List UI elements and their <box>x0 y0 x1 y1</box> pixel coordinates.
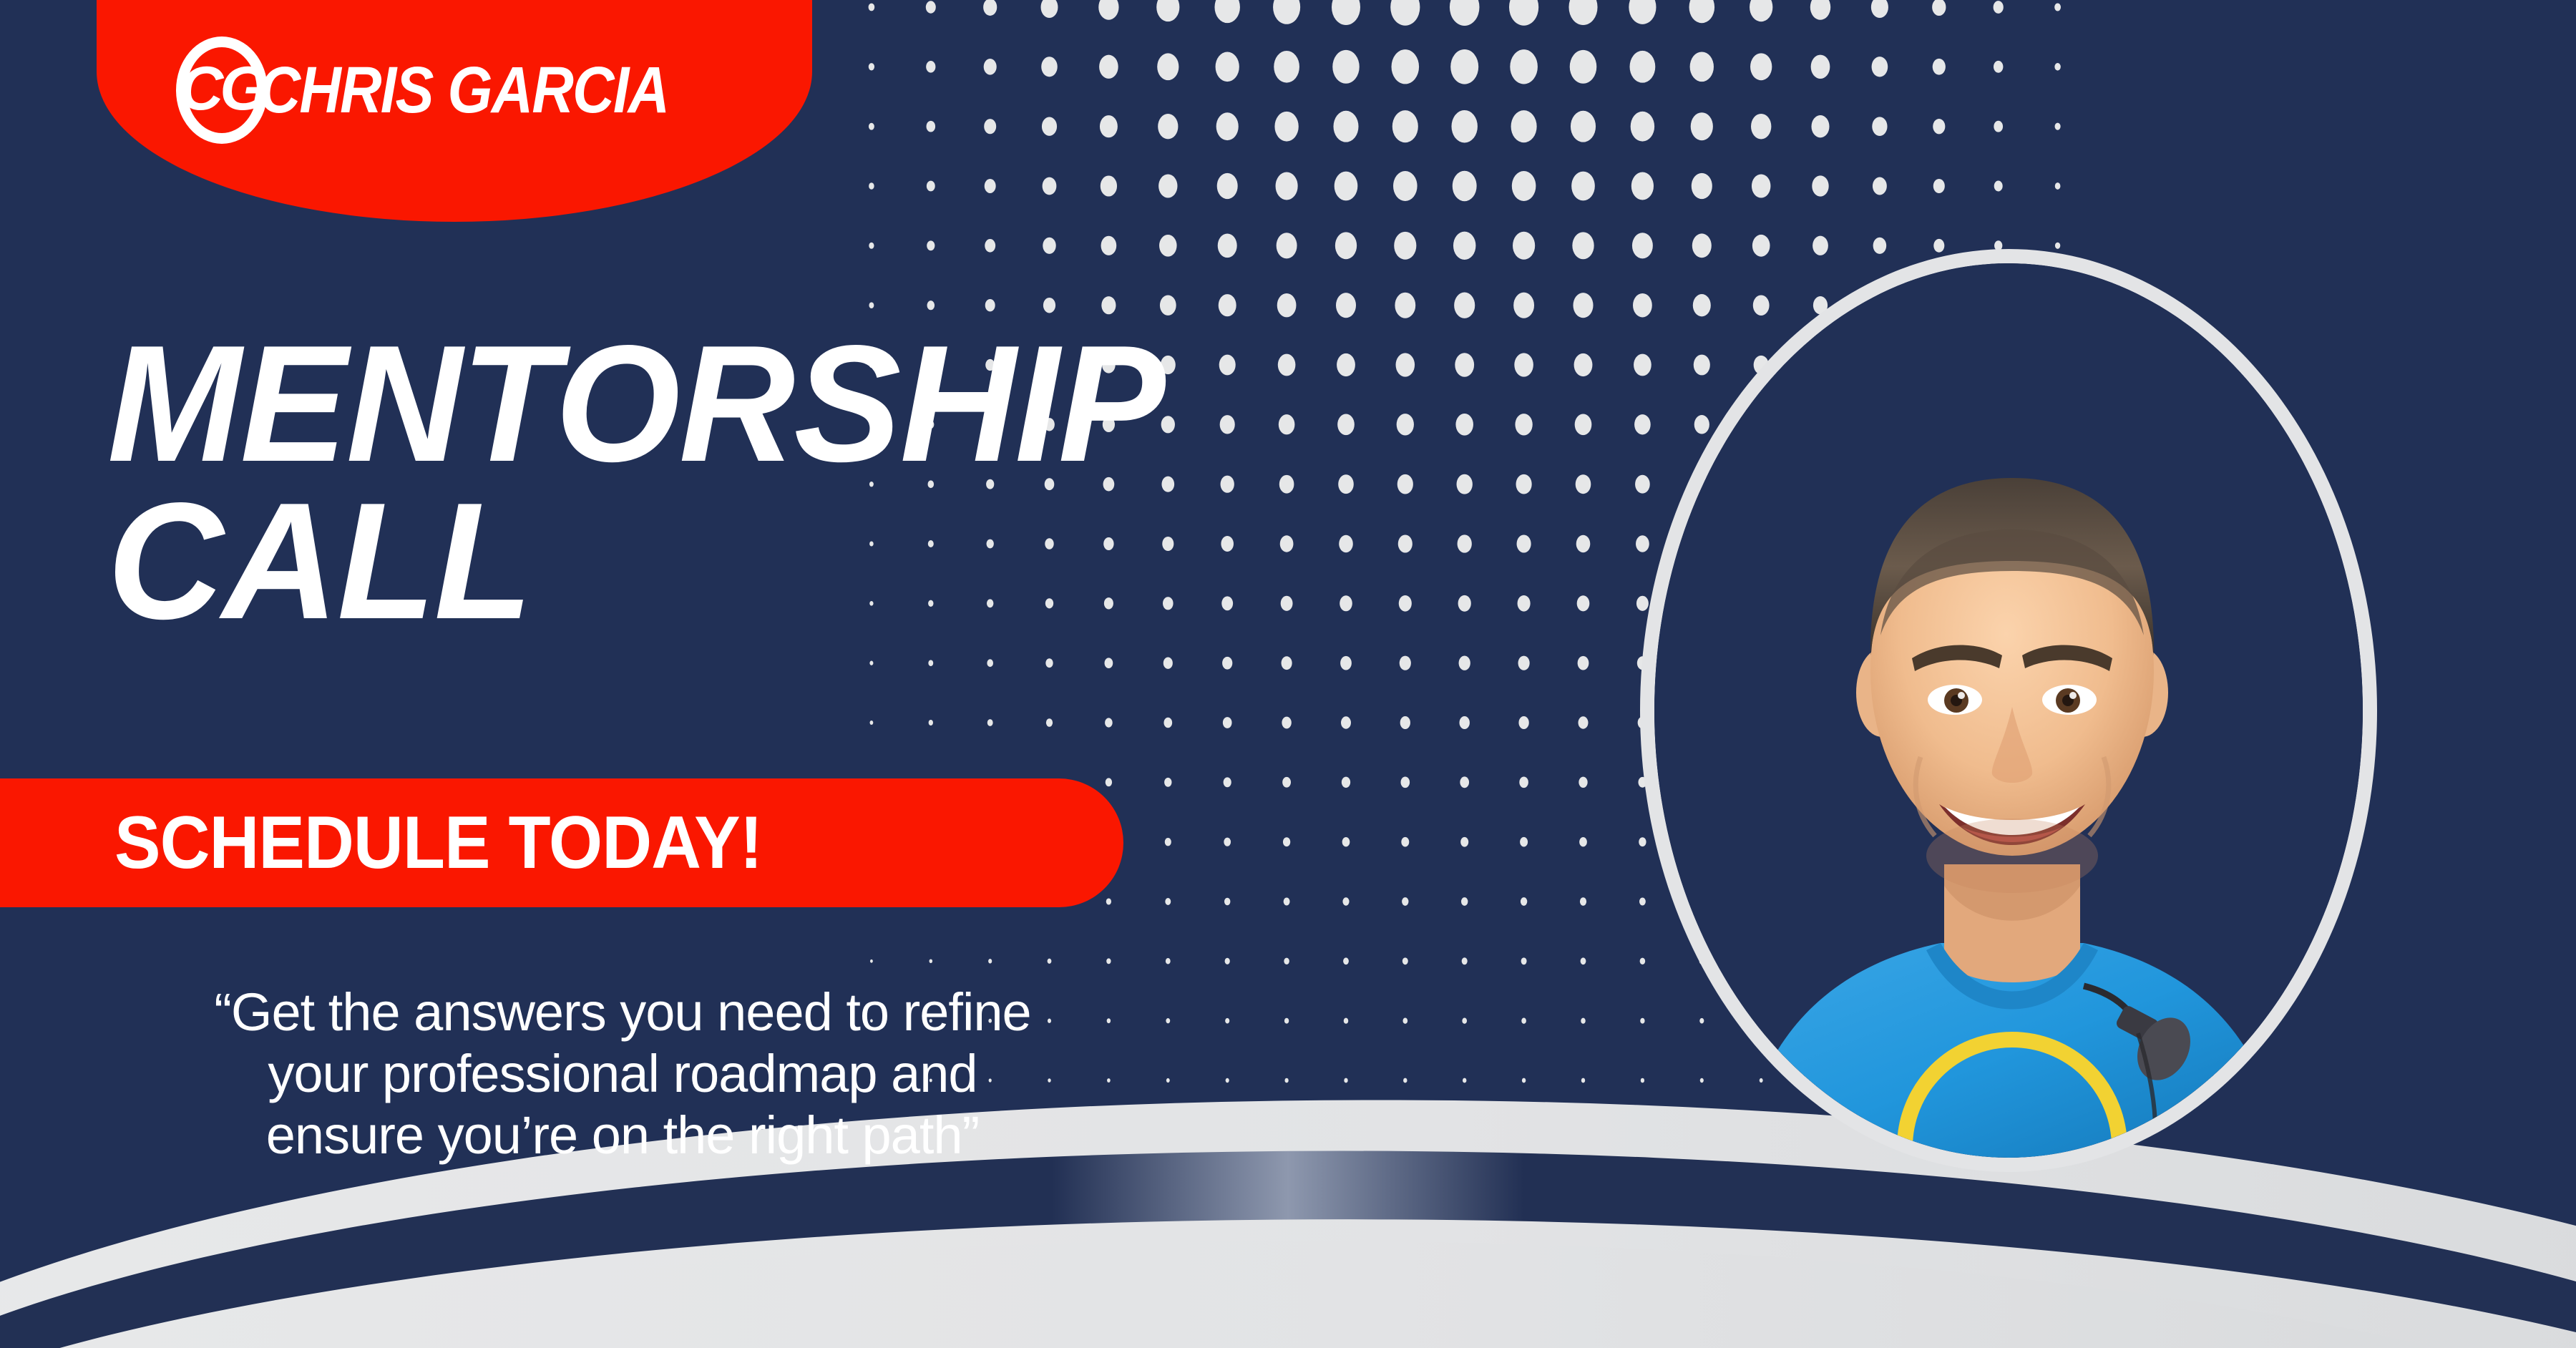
cta-label: SCHEDULE TODAY! <box>114 801 762 886</box>
logo-monogram: CG <box>179 58 264 119</box>
logo-lockup: CG CHRIS GARCIA <box>176 36 733 144</box>
portrait-oval-frame <box>1640 249 2377 1172</box>
cg-circle-monogram-icon: CG <box>176 36 268 144</box>
logo-badge: CG CHRIS GARCIA <box>97 0 812 222</box>
promo-banner: CG CHRIS GARCIA MENTORSHIP CALL SCHEDULE… <box>0 0 2576 1348</box>
schedule-today-button[interactable]: SCHEDULE TODAY! <box>0 778 1123 907</box>
brand-name: CHRIS GARCIA <box>258 53 668 128</box>
avatar <box>1654 263 2363 1158</box>
page-title: MENTORSHIP CALL <box>107 326 1164 641</box>
quote-text: “Get the answers you need to refine your… <box>86 982 1159 1166</box>
